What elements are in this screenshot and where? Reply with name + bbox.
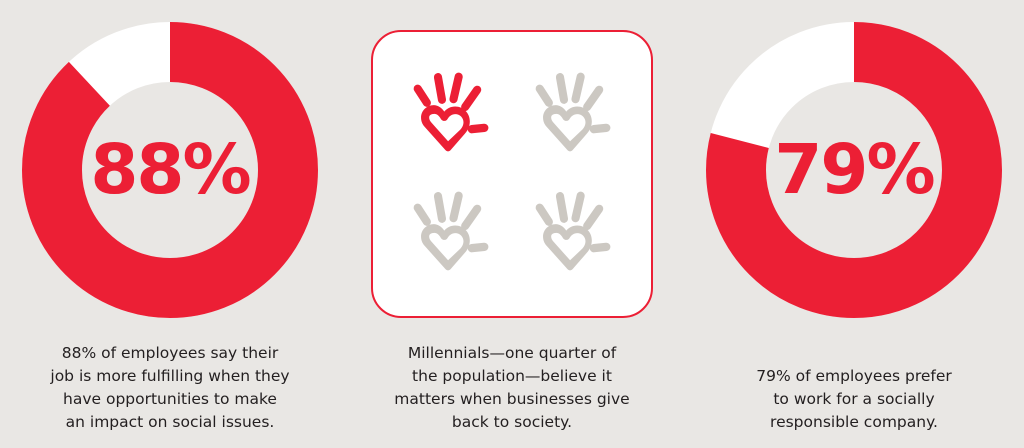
heart-hand-cell-1 xyxy=(393,58,509,171)
donut-chart-79: 79% xyxy=(706,22,1002,318)
donut-88-center-value: 88% xyxy=(22,22,318,318)
caption-center: Millennials—one quarter of the populatio… xyxy=(362,342,662,434)
heart-hand-icon-array xyxy=(393,58,631,290)
donut-chart-88: 88% xyxy=(22,22,318,318)
infographic-root: 88% 88% of employees say their job is mo… xyxy=(0,0,1024,448)
heart-hand-icon-muted xyxy=(399,182,503,286)
heart-hand-icon-muted xyxy=(521,182,625,286)
caption-right: 79% of employees prefer to work for a so… xyxy=(709,365,999,434)
stat-panel-center: Millennials—one quarter of the populatio… xyxy=(340,0,684,448)
heart-hand-cell-2 xyxy=(515,58,631,171)
heart-hand-cell-4 xyxy=(515,177,631,290)
icon-card xyxy=(371,30,653,318)
heart-hand-cell-3 xyxy=(393,177,509,290)
heart-hand-icon-highlighted xyxy=(399,63,503,167)
stat-panel-left: 88% 88% of employees say their job is mo… xyxy=(0,0,340,448)
caption-left: 88% of employees say their job is more f… xyxy=(20,342,320,434)
donut-79-center-value: 79% xyxy=(706,22,1002,318)
heart-hand-icon-muted xyxy=(521,63,625,167)
stat-panel-right: 79% 79% of employees prefer to work for … xyxy=(684,0,1024,448)
